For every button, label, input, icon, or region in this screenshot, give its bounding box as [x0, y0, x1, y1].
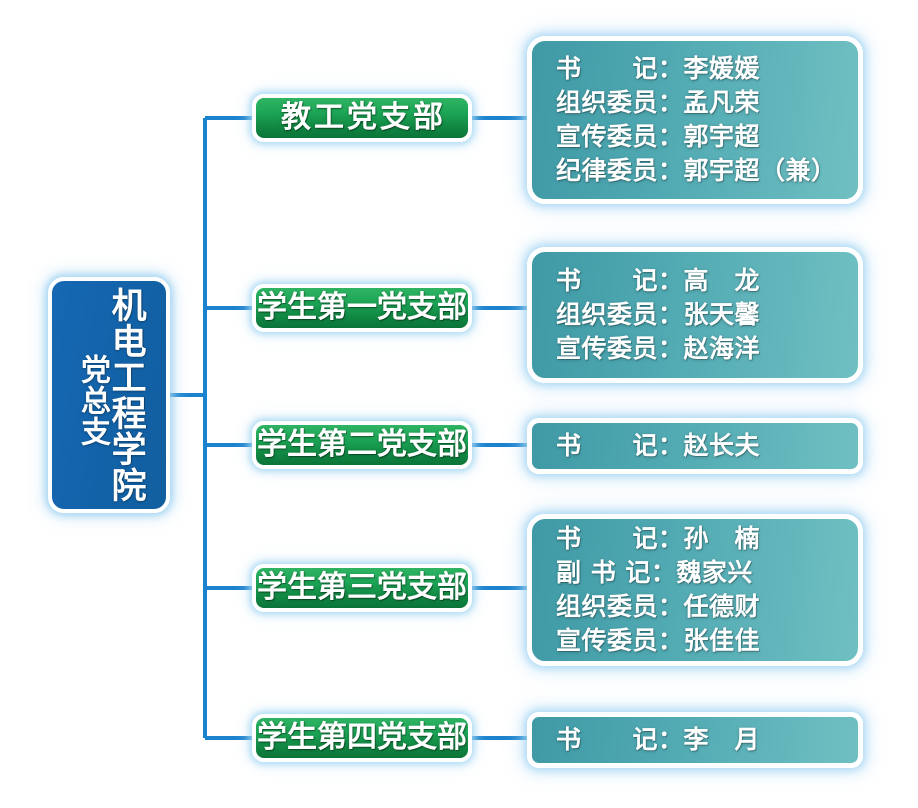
branch-box-5[interactable]: 学生第四党支部 [252, 714, 472, 762]
branch-label: 学生第三党支部 [257, 573, 467, 603]
detail-panel-3[interactable]: 书 记：赵长夫 [527, 418, 863, 474]
detail-line: 书 记：李 月 [556, 723, 858, 757]
branch-box-1[interactable]: 教工党支部 [252, 94, 472, 142]
detail-line: 宣传委员：郭宇超 [556, 120, 858, 154]
detail-panel-4[interactable]: 书 记：孙 楠副 书 记：魏家兴组织委员：任德财宣传委员：张佳佳 [527, 514, 863, 666]
root-node-subname: 党总支 [76, 354, 107, 447]
detail-line: 宣传委员：张佳佳 [556, 624, 858, 658]
detail-line: 书 记：孙 楠 [556, 522, 858, 556]
root-node-organization[interactable]: 机电工程学院 党总支 [48, 277, 170, 513]
detail-line: 书 记：高 龙 [556, 264, 858, 298]
detail-line: 书 记：赵长夫 [556, 429, 858, 463]
detail-line: 副 书 记：魏家兴 [556, 556, 858, 590]
branch-box-4[interactable]: 学生第三党支部 [252, 564, 472, 612]
branch-box-3[interactable]: 学生第二党支部 [252, 421, 472, 469]
detail-line: 宣传委员：赵海洋 [556, 332, 858, 366]
detail-line: 纪律委员：郭宇超（兼） [556, 154, 858, 188]
detail-panel-5[interactable]: 书 记：李 月 [527, 712, 863, 768]
detail-line: 书 记：李媛媛 [556, 52, 858, 86]
root-node-name: 机电工程学院 [107, 287, 143, 503]
branch-label: 学生第二党支部 [257, 430, 467, 460]
detail-panel-1[interactable]: 书 记：李媛媛组织委员：孟凡荣宣传委员：郭宇超纪律委员：郭宇超（兼） [527, 36, 863, 204]
branch-label: 学生第四党支部 [257, 723, 467, 753]
branch-label: 教工党支部 [278, 103, 446, 133]
org-chart: 机电工程学院 党总支 教工党支部书 记：李媛媛组织委员：孟凡荣宣传委员：郭宇超纪… [0, 0, 918, 808]
detail-line: 组织委员：任德财 [556, 590, 858, 624]
branch-box-2[interactable]: 学生第一党支部 [252, 284, 472, 332]
branch-label: 学生第一党支部 [257, 293, 467, 323]
detail-line: 组织委员：孟凡荣 [556, 86, 858, 120]
detail-panel-2[interactable]: 书 记：高 龙组织委员：张天馨宣传委员：赵海洋 [527, 247, 863, 383]
detail-line: 组织委员：张天馨 [556, 298, 858, 332]
